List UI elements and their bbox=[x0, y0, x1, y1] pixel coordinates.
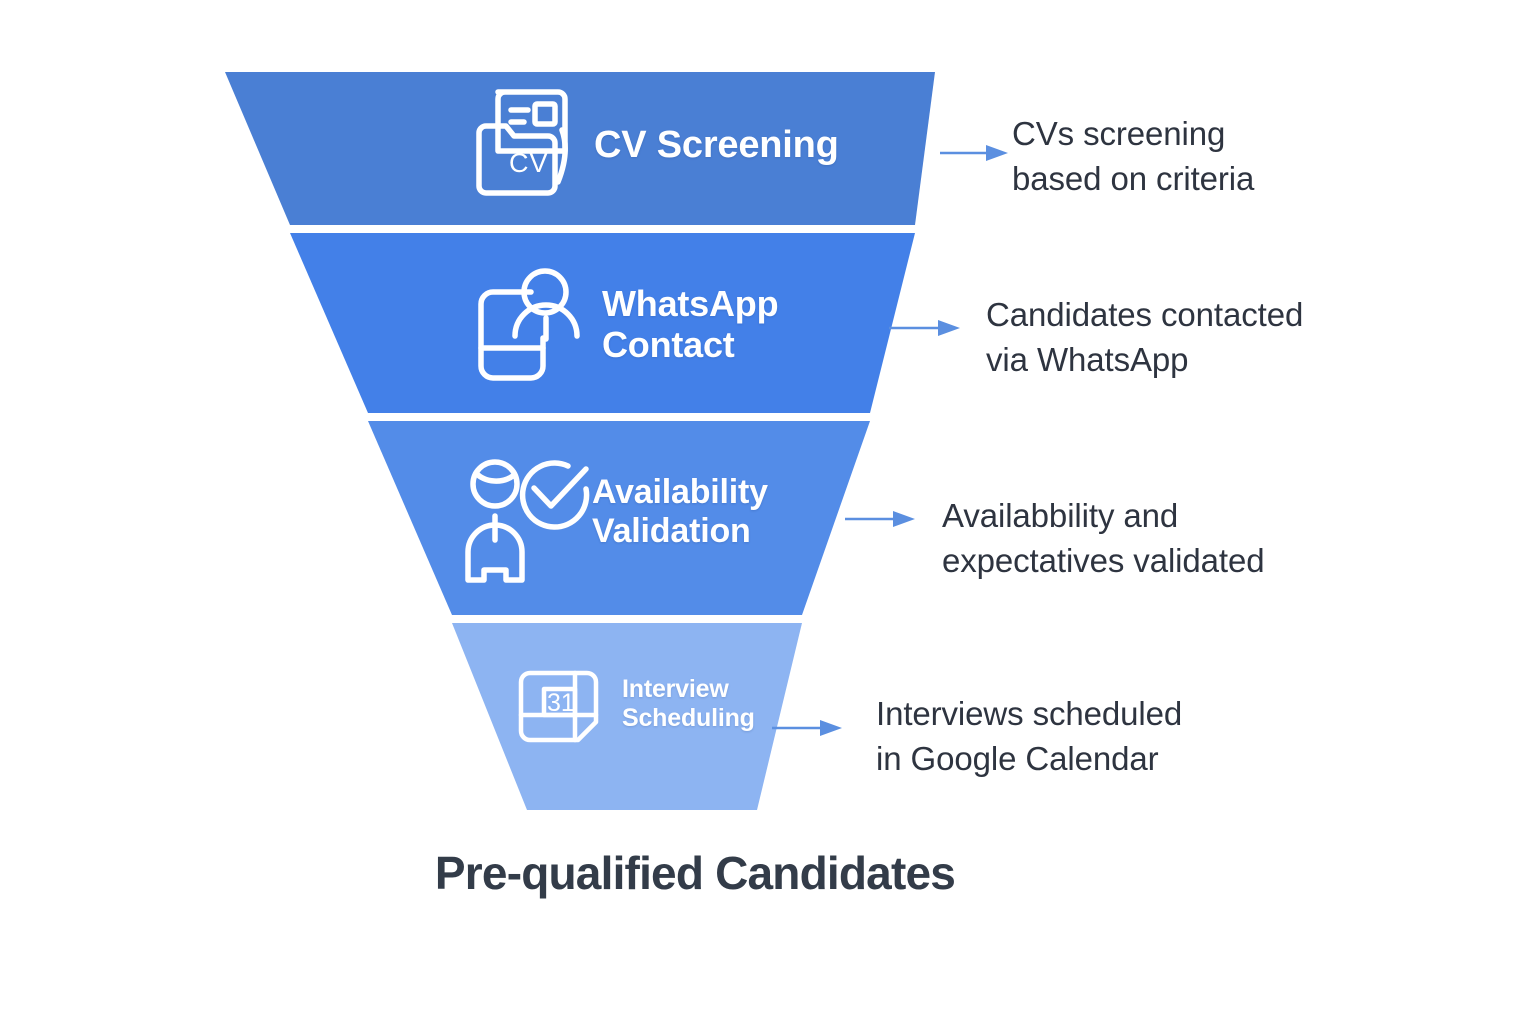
band-label-whatsapp-contact: WhatsApp Contact bbox=[602, 283, 778, 365]
band-label-cv-screening: CV Screening bbox=[594, 124, 839, 167]
arrow-interview-scheduling bbox=[772, 720, 842, 736]
band-label-availability-validation: Availability Validation bbox=[592, 473, 768, 551]
svg-text:31: 31 bbox=[547, 689, 575, 717]
arrow-availability-validation bbox=[845, 511, 915, 527]
stage-note-whatsapp-contact: Candidates contacted via WhatsApp bbox=[986, 293, 1303, 382]
arrow-whatsapp-contact bbox=[889, 320, 960, 336]
funnel-title: Pre-qualified Candidates bbox=[0, 846, 1390, 900]
band-label-interview-scheduling: Interview Scheduling bbox=[622, 675, 755, 732]
stage-note-cv-screening: CVs screening based on criteria bbox=[1012, 112, 1254, 201]
svg-text:CV: CV bbox=[509, 148, 549, 178]
stage-note-interview-scheduling: Interviews scheduled in Google Calendar bbox=[876, 692, 1182, 781]
stage-note-availability-validation: Availabbility and expectatives validated bbox=[942, 494, 1265, 583]
funnel-diagram: CV 31 bbox=[0, 0, 1536, 1024]
arrow-cv-screening bbox=[940, 145, 1008, 161]
